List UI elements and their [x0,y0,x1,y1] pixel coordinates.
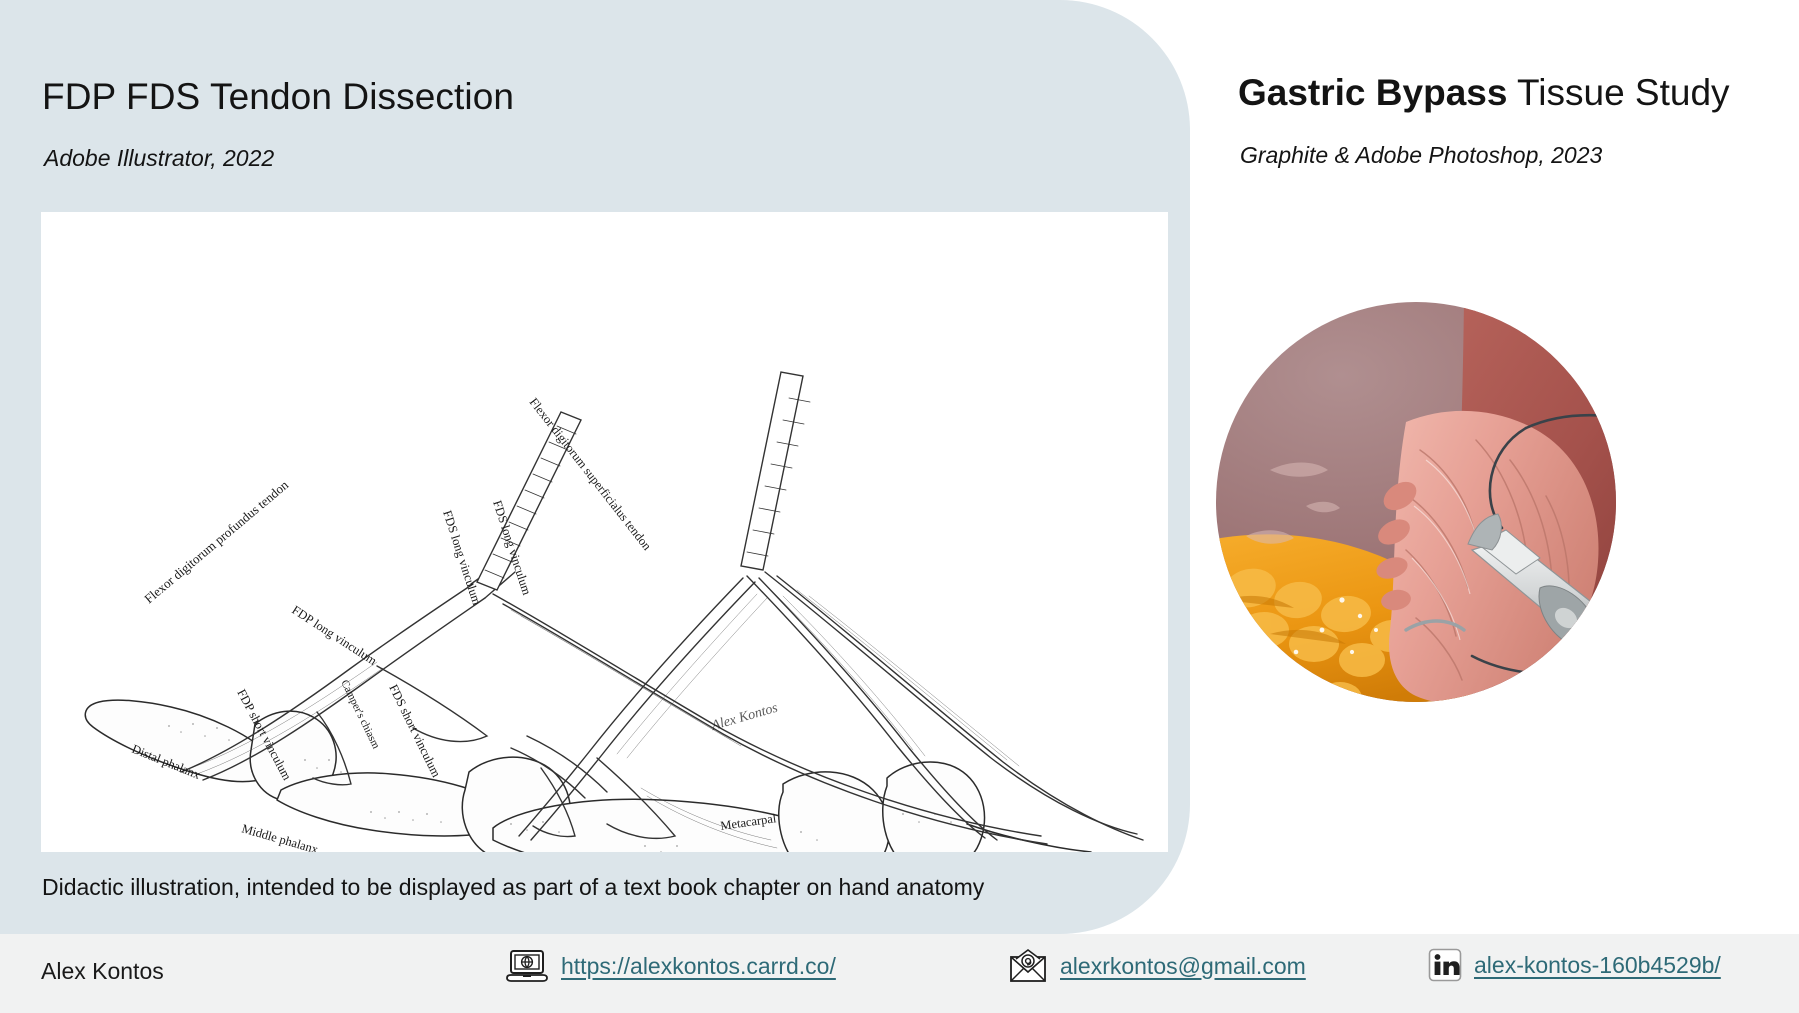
contact-linkedin[interactable]: alex-kontos-160b4529b/ [1428,948,1721,982]
website-link[interactable]: https://alexkontos.carrd.co/ [561,953,836,980]
left-project-medium-year: Adobe Illustrator, 2022 [44,145,274,172]
author-name: Alex Kontos [41,958,164,985]
right-project-title-bold: Gastric Bypass [1238,72,1507,113]
email-link[interactable]: alexrkontos@gmail.com [1060,953,1306,980]
laptop-globe-icon [505,948,549,984]
laparoscopic-gastric-bypass-render [1210,300,1799,720]
linkedin-link[interactable]: alex-kontos-160b4529b/ [1474,952,1721,979]
right-project-title: Gastric Bypass Tissue Study [1238,72,1730,114]
hand-tendon-dissection-lineart: Flexor digitorum profundus tendon Distal… [41,212,1168,852]
contact-website[interactable]: https://alexkontos.carrd.co/ [505,948,836,984]
left-project-caption: Didactic illustration, intended to be di… [42,874,984,901]
gastric-bypass-artwork[interactable] [1210,300,1799,720]
right-project-medium-year: Graphite & Adobe Photoshop, 2023 [1240,142,1602,169]
left-project-title: FDP FDS Tendon Dissection [42,76,514,118]
right-project-title-regular: Tissue Study [1507,72,1729,113]
envelope-at-icon [1008,948,1048,984]
footer-bar: Alex Kontos https://alexkontos.carrd.co/ [0,934,1799,1013]
linkedin-icon [1428,948,1462,982]
contact-email[interactable]: alexrkontos@gmail.com [1008,948,1306,984]
tendon-dissection-artwork[interactable]: Flexor digitorum profundus tendon Distal… [41,212,1168,852]
